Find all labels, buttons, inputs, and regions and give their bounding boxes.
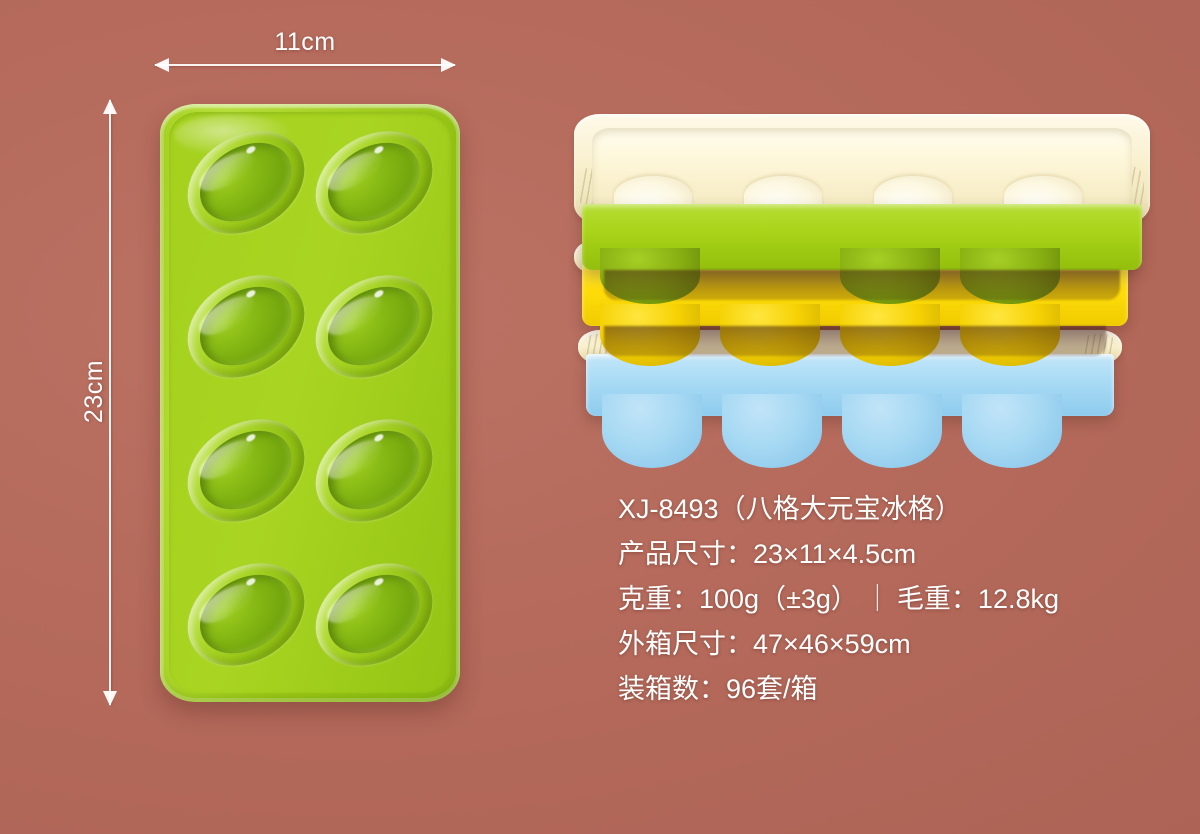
height-dimension-label: 23cm <box>80 360 109 423</box>
spec-gross-weight-label: 毛重： <box>897 584 978 614</box>
spec-carton-qty-label: 装箱数： <box>618 674 726 704</box>
product-specs: XJ-8493（八格大元宝冰格） 产品尺寸：23×11×4.5cm 克重：100… <box>618 487 1158 712</box>
stacked-trays-group <box>560 100 1180 450</box>
spec-product-size: 产品尺寸：23×11×4.5cm <box>618 532 1158 577</box>
green-tray-body <box>582 204 1142 270</box>
spec-gram-weight-value: 100g（±3g） <box>699 584 858 614</box>
height-dimension-arrow <box>109 100 111 705</box>
spec-carton-qty: 装箱数：96套/箱 <box>618 667 1158 712</box>
green-tray-side-view <box>574 114 1150 274</box>
blue-cavity-bumps <box>586 416 1114 470</box>
spec-carton-size-label: 外箱尺寸： <box>618 629 753 659</box>
spec-gross-weight-value: 12.8kg <box>978 584 1059 614</box>
spec-carton-qty-value: 96套/箱 <box>726 674 818 704</box>
spec-carton-size-value: 47×46×59cm <box>753 629 911 659</box>
cream-inner-tray <box>592 128 1132 214</box>
width-dimension-arrow <box>155 64 455 66</box>
interior-shadow <box>604 270 1120 300</box>
spec-product-size-label: 产品尺寸： <box>618 539 753 569</box>
green-tray-top-view <box>160 104 460 702</box>
product-detail-image: 11cm 23cm <box>0 0 1200 834</box>
spec-product-size-value: 23×11×4.5cm <box>753 539 916 569</box>
spec-weights: 克重：100g（±3g）｜毛重：12.8kg <box>618 577 1158 622</box>
spec-carton-size: 外箱尺寸：47×46×59cm <box>618 622 1158 667</box>
spec-model-line: XJ-8493（八格大元宝冰格） <box>618 487 1158 532</box>
spec-separator: ｜ <box>858 584 897 614</box>
interior-shadow <box>604 326 1106 356</box>
spec-gram-weight-label: 克重： <box>618 584 699 614</box>
width-dimension-label: 11cm <box>155 28 455 57</box>
